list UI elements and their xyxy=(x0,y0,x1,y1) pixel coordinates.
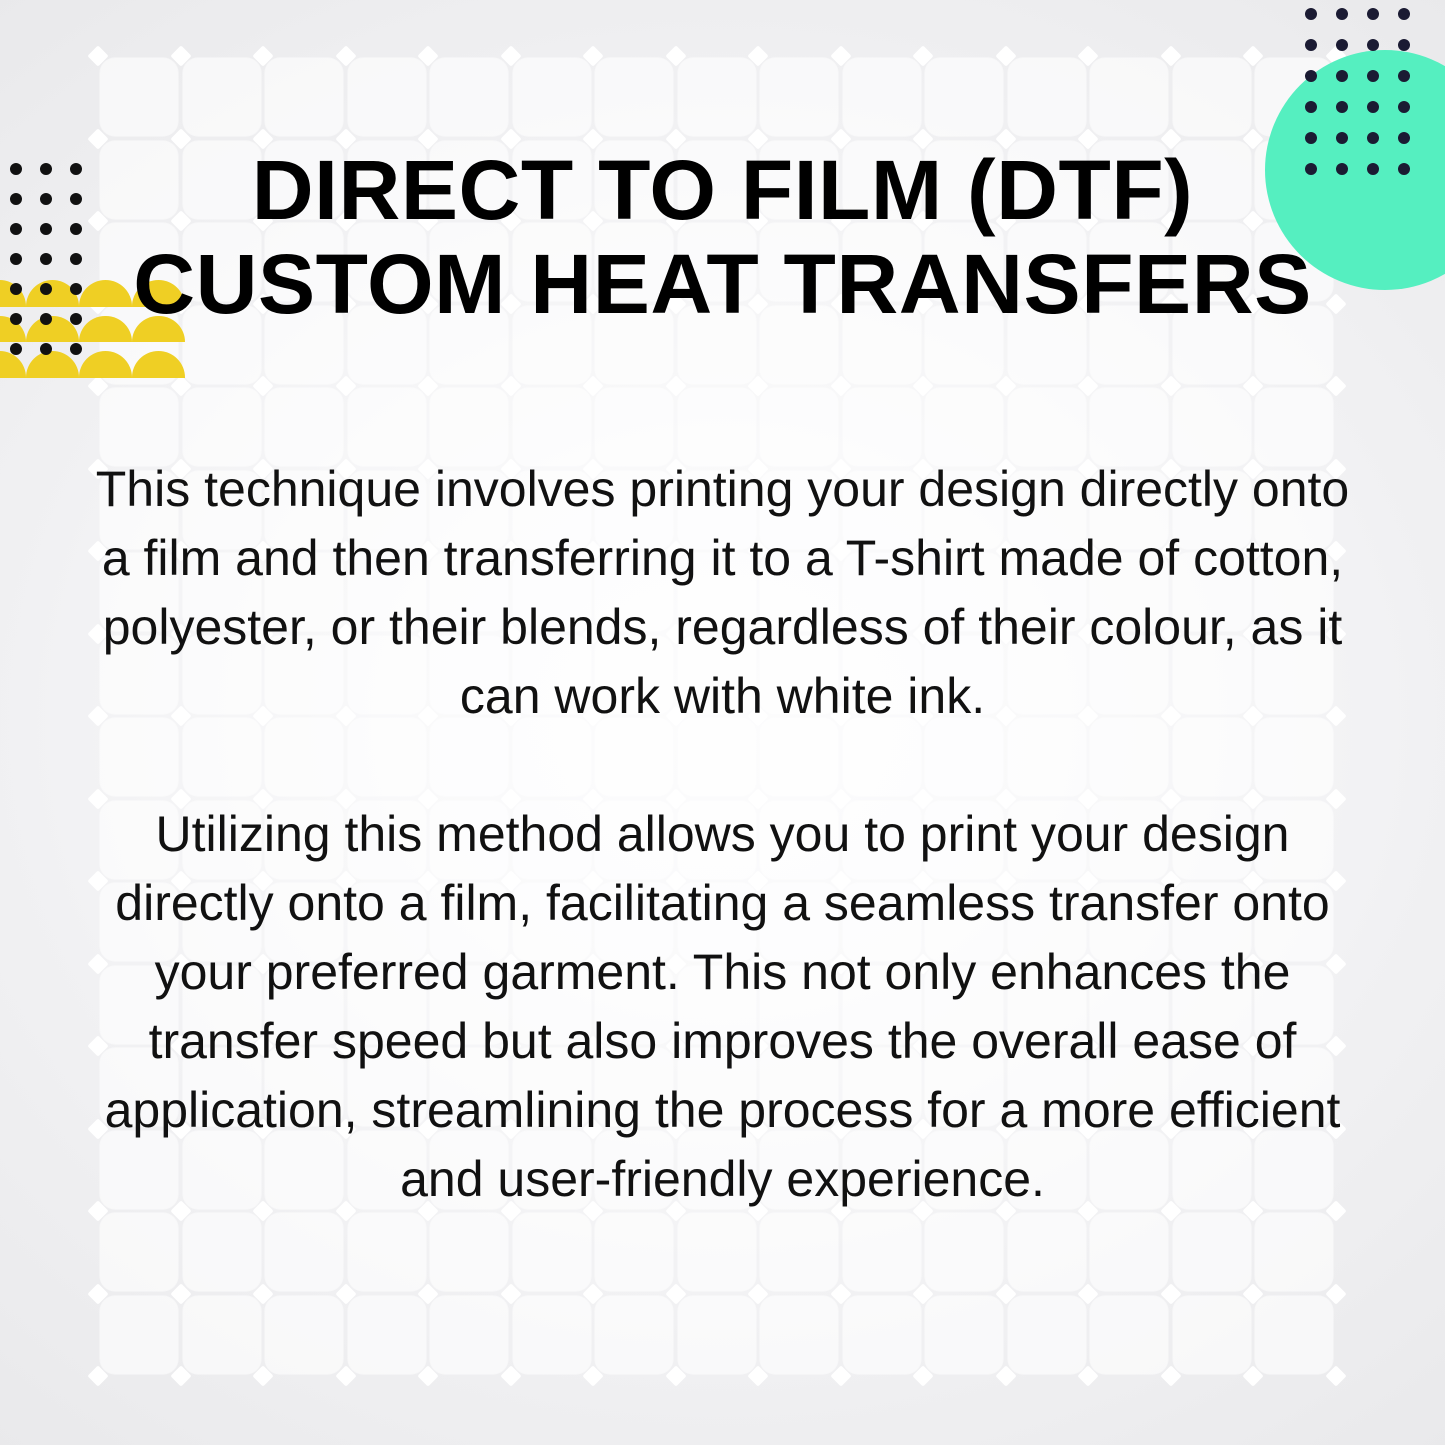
title-line-1: DIRECT TO FILM (DTF) xyxy=(0,143,1445,237)
poster-canvas: DIRECT TO FILM (DTF) CUSTOM HEAT TRANSFE… xyxy=(0,0,1445,1445)
title-line-2: CUSTOM HEAT TRANSFERS xyxy=(0,237,1445,331)
paragraph-2: Utilizing this method allows you to prin… xyxy=(95,800,1350,1214)
poster-content: DIRECT TO FILM (DTF) CUSTOM HEAT TRANSFE… xyxy=(0,0,1445,1445)
page-title: DIRECT TO FILM (DTF) CUSTOM HEAT TRANSFE… xyxy=(0,143,1445,331)
body-copy: This technique involves printing your de… xyxy=(95,455,1350,1214)
paragraph-1: This technique involves printing your de… xyxy=(95,455,1350,731)
